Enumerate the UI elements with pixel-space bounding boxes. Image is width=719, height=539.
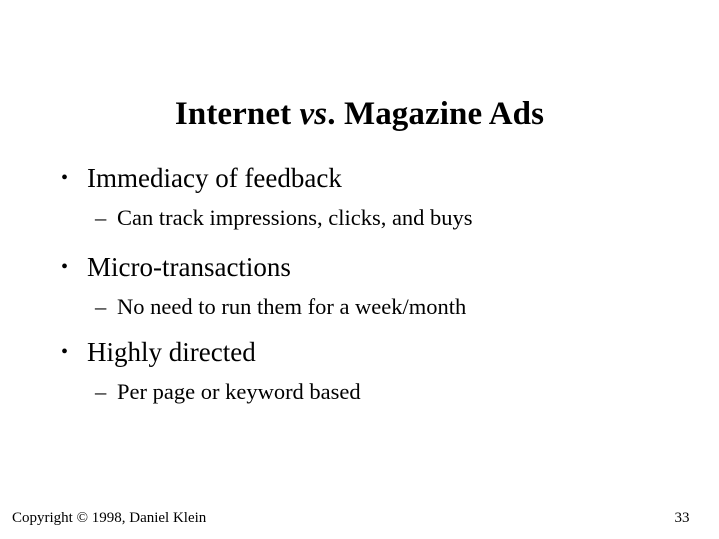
sub-bullet-item-2: – No need to run them for a week/month — [0, 287, 719, 327]
dash-icon: – — [95, 287, 106, 327]
sub-bullet-item-1: – Can track impressions, clicks, and buy… — [0, 198, 719, 238]
bullet-item-1: • Immediacy of feedback — [0, 158, 719, 198]
bullet-group-1: • Immediacy of feedback – Can track impr… — [0, 158, 719, 238]
page-title: Internet vs. Magazine Ads — [0, 94, 719, 134]
title-part-after: . Magazine Ads — [327, 96, 544, 132]
dash-icon: – — [95, 198, 106, 238]
sub-bullet-item-1-label: Can track impressions, clicks, and buys — [117, 205, 473, 230]
spacer-1 — [0, 238, 719, 247]
bullet-item-2-label: Micro-transactions — [87, 252, 291, 282]
bullet-group-3: • Highly directed – Per page or keyword … — [0, 332, 719, 412]
title-emphasis: vs — [300, 96, 328, 132]
bullet-item-3: • Highly directed — [0, 332, 719, 372]
bullet-dot-icon: • — [61, 247, 68, 287]
bullet-item-1-label: Immediacy of feedback — [87, 163, 342, 193]
sub-bullet-item-3: – Per page or keyword based — [0, 372, 719, 412]
sub-bullet-item-2-label: No need to run them for a week/month — [117, 294, 466, 319]
page-number: 33 — [660, 508, 704, 528]
dash-icon: – — [95, 372, 106, 412]
bullet-dot-icon: • — [61, 158, 68, 198]
slide-canvas: Internet vs. Magazine Ads • Immediacy of… — [0, 0, 719, 539]
sub-bullet-item-3-label: Per page or keyword based — [117, 379, 361, 404]
bullet-item-2: • Micro-transactions — [0, 247, 719, 287]
copyright-notice: Copyright © 1998, Daniel Klein — [12, 508, 206, 528]
slide-body: • Immediacy of feedback – Can track impr… — [0, 158, 719, 412]
bullet-item-3-label: Highly directed — [87, 337, 256, 367]
bullet-dot-icon: • — [61, 332, 68, 372]
bullet-group-2: • Micro-transactions – No need to run th… — [0, 247, 719, 327]
title-part-before: Internet — [175, 96, 300, 132]
